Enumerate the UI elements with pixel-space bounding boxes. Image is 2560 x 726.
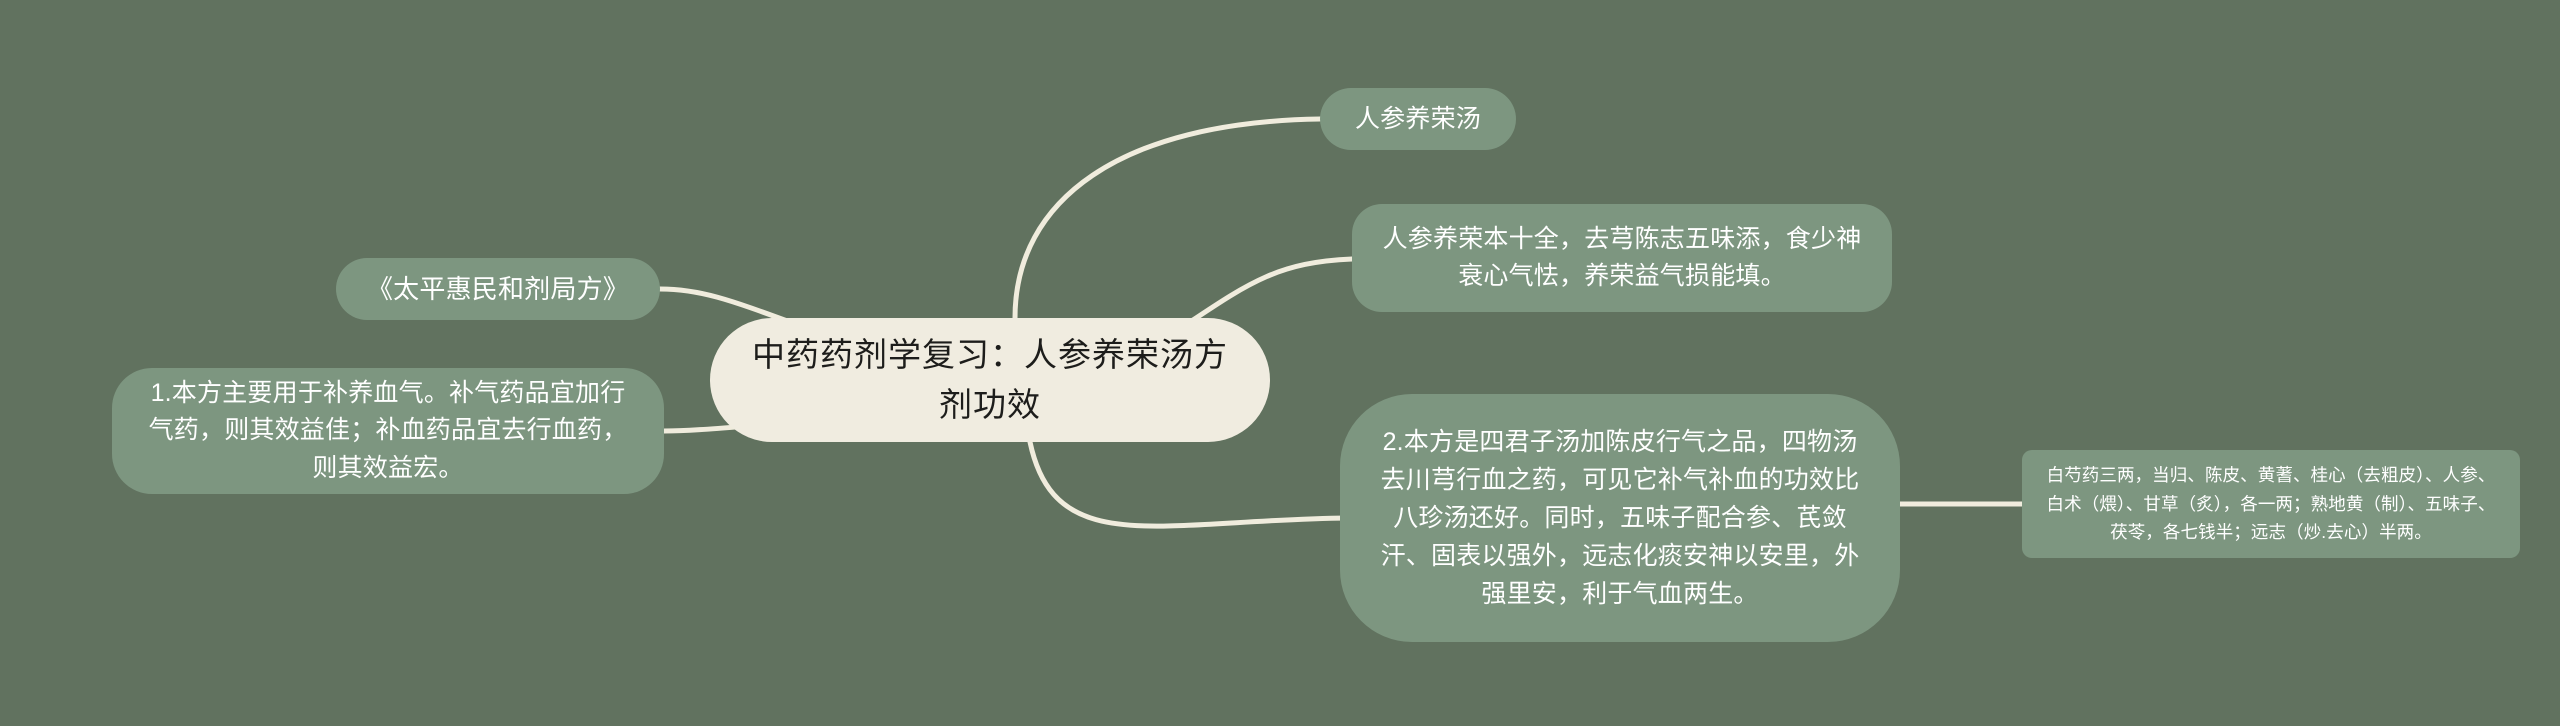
mindmap-node-source-book[interactable]: 《太平惠民和剂局方》	[336, 258, 660, 320]
mindmap-root-node[interactable]: 中药药剂学复习：人参养荣汤方剂功效	[710, 318, 1270, 442]
mindmap-root-label: 中药药剂学复习：人参养荣汤方剂功效	[750, 330, 1230, 430]
mindmap-canvas: 中药药剂学复习：人参养荣汤方剂功效 人参养荣汤 人参养荣本十全，去芎陈志五味添，…	[0, 0, 2560, 726]
mindmap-node-usage-notes[interactable]: 1.本方主要用于补养血气。补气药品宜加行气药，则其效益佳；补血药品宜去行血药，则…	[112, 368, 664, 494]
mindmap-node-label: 1.本方主要用于补养血气。补气药品宜加行气药，则其效益佳；补血药品宜去行血药，则…	[146, 375, 630, 488]
edge-root-to-r2	[1190, 259, 1352, 322]
edge-root-to-r3	[1030, 442, 1348, 526]
edge-root-to-r1	[1015, 119, 1320, 318]
mindmap-node-label: 2.本方是四君子汤加陈皮行气之品，四物汤去川芎行血之药，可见它补气补血的功效比八…	[1370, 423, 1870, 613]
mindmap-node-label: 人参养荣本十全，去芎陈志五味添，食少神衰心气怯，养荣益气损能填。	[1380, 221, 1864, 296]
mindmap-node-formula-name[interactable]: 人参养荣汤	[1320, 88, 1516, 150]
mindmap-edges	[0, 0, 2560, 726]
mindmap-node-analysis[interactable]: 2.本方是四君子汤加陈皮行气之品，四物汤去川芎行血之药，可见它补气补血的功效比八…	[1340, 394, 1900, 642]
mindmap-node-ingredients[interactable]: 白芍药三两，当归、陈皮、黄蓍、桂心（去粗皮）、人参、白术（煨）、甘草（炙），各一…	[2022, 450, 2520, 558]
mindmap-node-label: 《太平惠民和剂局方》	[348, 269, 648, 309]
mindmap-node-label: 人参养荣汤	[1334, 100, 1502, 139]
mindmap-node-label: 白芍药三两，当归、陈皮、黄蓍、桂心（去粗皮）、人参、白术（煨）、甘草（炙），各一…	[2038, 461, 2504, 546]
mindmap-node-verse[interactable]: 人参养荣本十全，去芎陈志五味添，食少神衰心气怯，养荣益气损能填。	[1352, 204, 1892, 312]
